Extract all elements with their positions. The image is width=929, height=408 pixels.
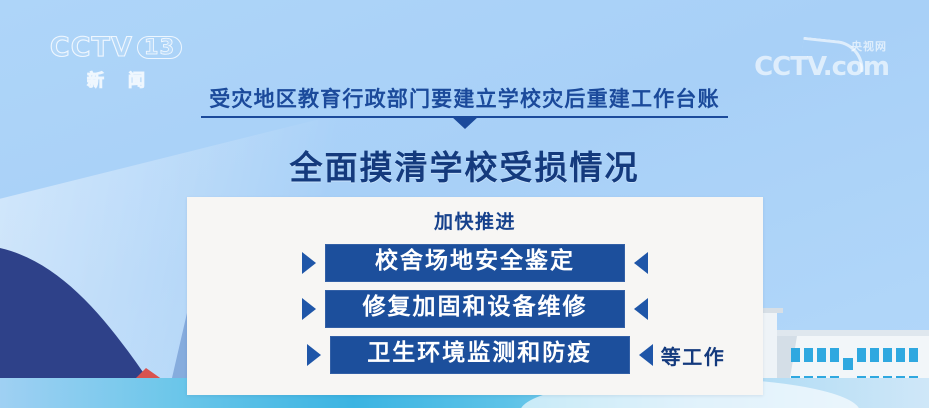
- page-title: 全面摸清学校受损情况: [0, 141, 929, 189]
- triangle-right-icon: [307, 344, 321, 366]
- list-item: 校舍场地安全鉴定: [187, 244, 763, 282]
- subtitle-container: 受灾地区教育行政部门要建立学校灾后重建工作台账: [0, 88, 929, 118]
- panel-item-label: 校舍场地安全鉴定: [325, 244, 625, 281]
- panel-item-list: 校舍场地安全鉴定 修复加固和设备维修 卫生环境监测和防疫 等工作: [187, 244, 763, 374]
- triangle-right-icon: [302, 298, 316, 320]
- headline-subtitle: 受灾地区教育行政部门要建立学校灾后重建工作台账: [201, 88, 728, 118]
- list-item: 卫生环境监测和防疫 等工作: [187, 336, 763, 374]
- panel-title: 加快推进: [187, 207, 763, 234]
- triangle-left-icon: [639, 344, 653, 366]
- panel-item-label: 卫生环境监测和防疫: [330, 336, 630, 373]
- broadcast-graphic: CCTV 13 新 闻 CCTV.com 央视网 受灾地区教育行政部门要建立学校…: [0, 0, 929, 408]
- caret-down-icon: [451, 116, 479, 129]
- info-panel: 加快推进 校舍场地安全鉴定 修复加固和设备维修 卫生环境监测和防疫: [187, 197, 763, 395]
- panel-item-label: 修复加固和设备维修: [325, 290, 625, 327]
- triangle-left-icon: [634, 252, 648, 274]
- triangle-left-icon: [634, 298, 648, 320]
- triangle-right-icon: [302, 252, 316, 274]
- panel-item-suffix: 等工作: [661, 341, 726, 370]
- list-item: 修复加固和设备维修: [187, 290, 763, 328]
